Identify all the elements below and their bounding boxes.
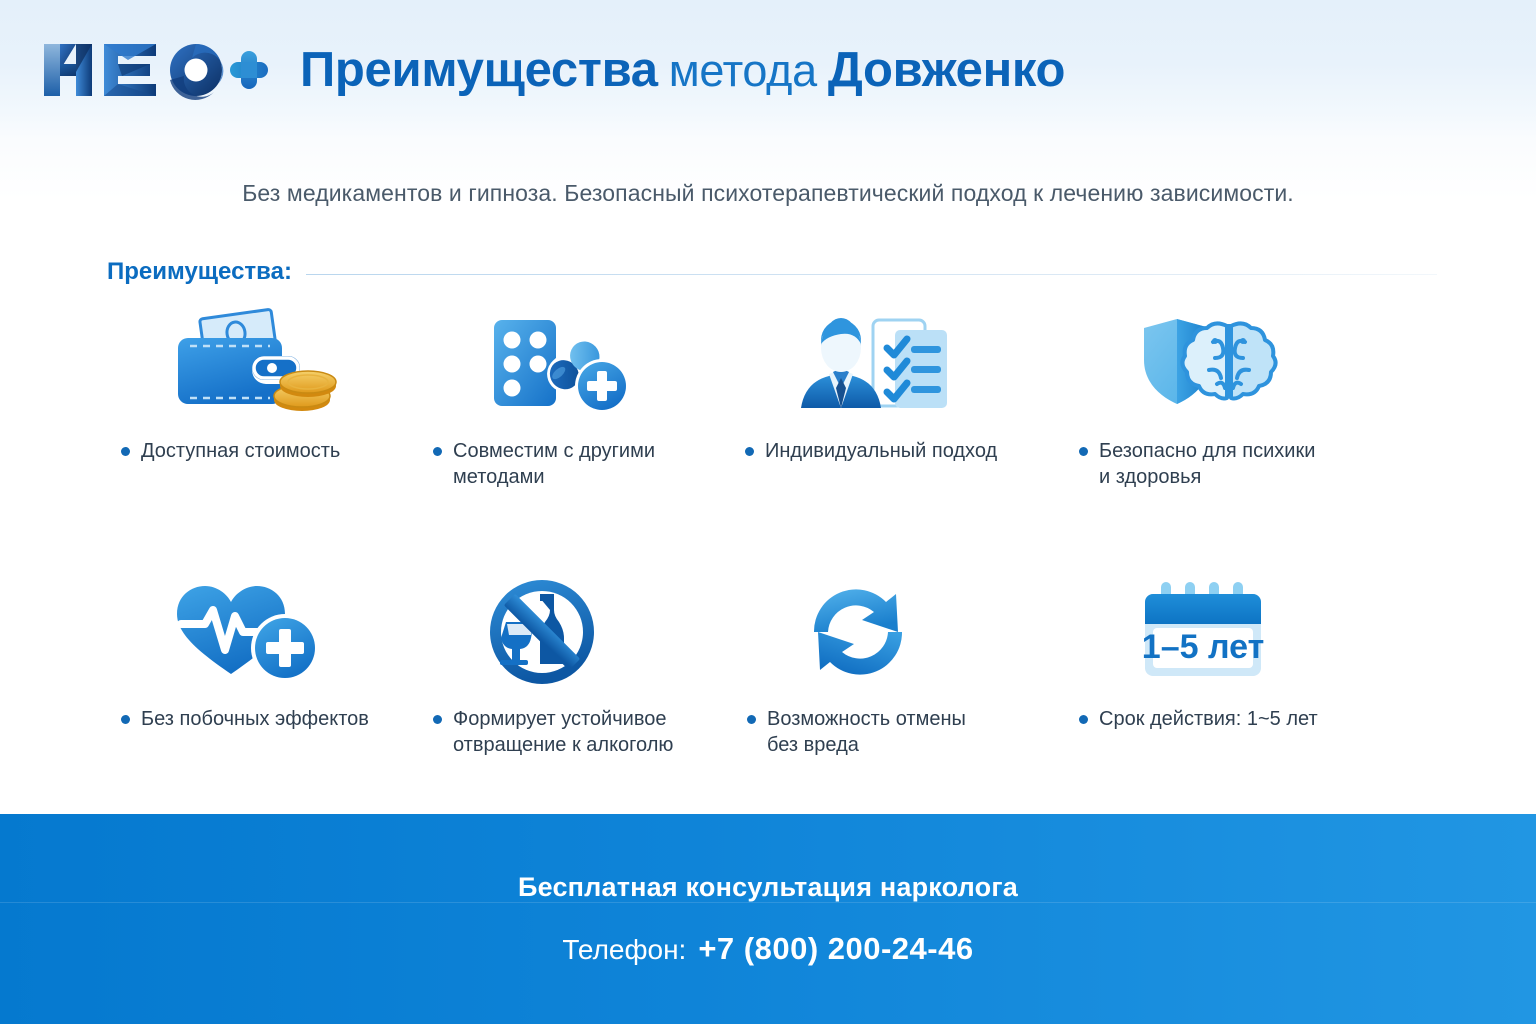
calendar-label: 1–5 лет: [1142, 628, 1264, 666]
benefit-item-safe: Безопасно для психики и здоровья: [1031, 305, 1343, 491]
benefit-label: Совместим с другими методами: [411, 438, 715, 491]
neo-plus-logo: [38, 35, 270, 105]
page-title: Преимущества метода Довженко: [300, 46, 1065, 95]
footer-phone-line: Телефон: +7 (800) 200-24-46: [562, 931, 973, 967]
benefit-item-no-side-effects: Без побочных эффектов: [95, 573, 407, 759]
benefits-row-1: Доступная стоимость: [95, 305, 1455, 491]
bullet-dot: [1079, 715, 1088, 724]
doctor-checklist-icon: [723, 305, 1027, 420]
heart-pulse-plus-icon: [99, 573, 403, 688]
bullet-dot: [747, 715, 756, 724]
bullet-dot: [121, 715, 130, 724]
bullet-dot: [121, 447, 130, 456]
bullet-dot: [1079, 447, 1088, 456]
bullet-dot: [433, 447, 442, 456]
benefit-text: Возможность отмены без вреда: [767, 706, 966, 759]
phone-number[interactable]: +7 (800) 200-24-46: [698, 931, 973, 967]
logo-mark: [38, 38, 270, 102]
title-light-metoda: метода: [669, 48, 817, 93]
wallet-coins-icon: [99, 305, 403, 420]
benefit-item-reversible: Возможность отмены без вреда: [719, 573, 1031, 759]
section-title: Преимущества:: [107, 258, 292, 286]
benefit-text: Совместим с другими методами: [453, 438, 715, 491]
benefit-label: Возможность отмены без вреда: [723, 706, 1027, 759]
benefit-item-duration: 1–5 лет Срок действия: 1~5 лет: [1031, 573, 1343, 759]
footer-cta-text: Бесплатная консультация нарколога: [518, 872, 1018, 903]
pills-plus-icon: [411, 305, 715, 420]
benefit-label: Без побочных эффектов: [99, 706, 403, 732]
refresh-arrows-icon: [723, 573, 1027, 688]
footer-divider: [0, 902, 1536, 903]
benefit-text: Индивидуальный подход: [765, 438, 997, 464]
benefit-item-compatible: Совместим с другими методами: [407, 305, 719, 491]
header-band: Преимущества метода Довженко: [0, 0, 1536, 140]
footer-cta-band: Бесплатная консультация нарколога Телефо…: [0, 814, 1536, 1024]
title-bold-dovzhenko: Довженко: [828, 46, 1065, 95]
benefit-label: Формирует устойчивое отвращение к алкого…: [411, 706, 715, 759]
benefits-section-header: Преимущества:: [107, 258, 1437, 286]
benefit-item-cost: Доступная стоимость: [95, 305, 407, 491]
benefit-label: Индивидуальный подход: [723, 438, 1027, 464]
benefit-text: Срок действия: 1~5 лет: [1099, 706, 1318, 732]
section-divider: [306, 274, 1437, 275]
phone-label: Телефон:: [562, 934, 686, 966]
benefit-item-individual: Индивидуальный подход: [719, 305, 1031, 491]
benefits-grid: Доступная стоимость: [95, 305, 1455, 759]
page-subtitle: Без медикаментов и гипноза. Безопасный п…: [0, 180, 1536, 207]
title-bold-preimushchestva: Преимущества: [300, 46, 658, 95]
bullet-dot: [745, 447, 754, 456]
calendar-icon: 1–5 лет: [1035, 573, 1339, 688]
benefit-text: Безопасно для психики и здоровья: [1099, 438, 1315, 491]
benefit-text: Без побочных эффектов: [141, 706, 369, 732]
bullet-dot: [433, 715, 442, 724]
benefit-item-aversion: Формирует устойчивое отвращение к алкого…: [407, 573, 719, 759]
benefit-label: Доступная стоимость: [99, 438, 403, 464]
shield-brain-icon: [1035, 305, 1339, 420]
benefit-text: Доступная стоимость: [141, 438, 340, 464]
benefit-label: Срок действия: 1~5 лет: [1035, 706, 1339, 732]
benefit-label: Безопасно для психики и здоровья: [1035, 438, 1339, 491]
benefits-row-2: Без побочных эффектов: [95, 573, 1455, 759]
benefit-text: Формирует устойчивое отвращение к алкого…: [453, 706, 673, 759]
no-alcohol-icon: [411, 573, 715, 688]
header-inner: Преимущества метода Довженко: [0, 35, 1065, 105]
